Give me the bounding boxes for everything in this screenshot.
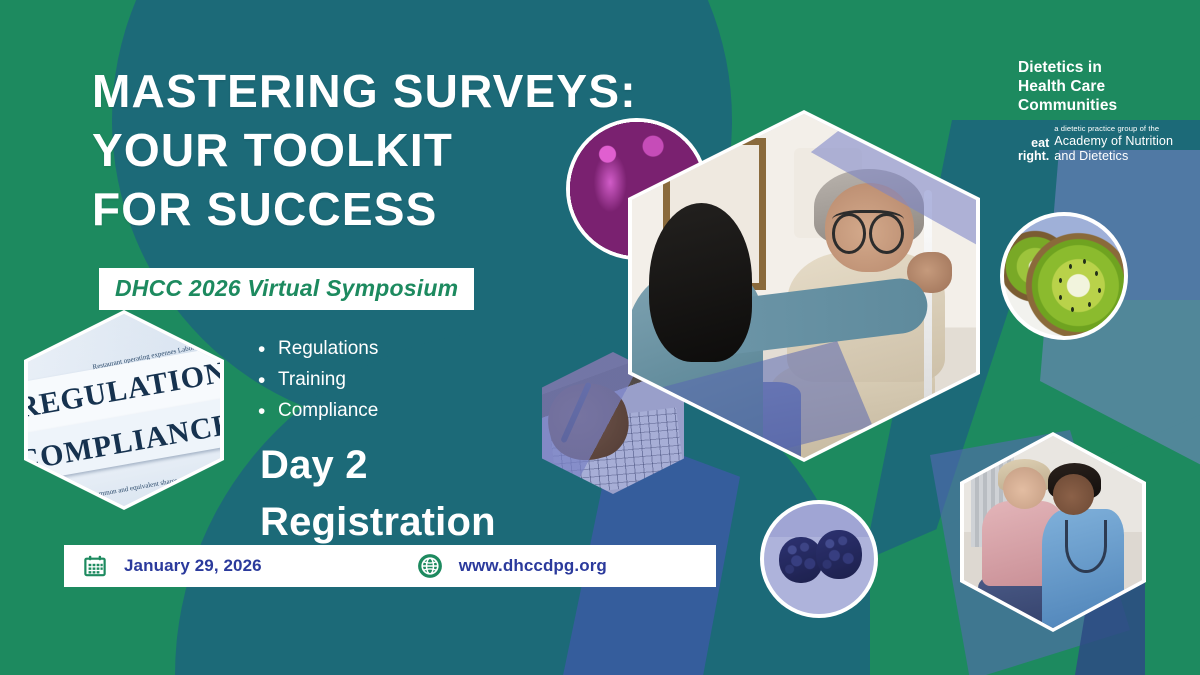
subtitle-text: DHCC 2026 Virtual Symposium: [115, 275, 458, 301]
kiwi-photo-inner: [1004, 216, 1124, 336]
academy-text-column: a dietetic practice group of the Academy…: [1054, 117, 1176, 164]
event-promo-poster: Restaurant operating expenses Labor ....…: [0, 0, 1200, 675]
topic-item-compliance: Compliance: [258, 396, 378, 427]
senior-glasses: [832, 210, 904, 234]
academy-line-2: and Dietetics: [1054, 149, 1176, 164]
subtitle-badge: DHCC 2026 Virtual Symposium: [99, 268, 474, 310]
logo-tagline: a dietetic practice group of the: [1054, 124, 1176, 134]
berries-periwinkle-tint: [764, 504, 874, 614]
registration-callout: Day 2 Registration: [260, 437, 496, 551]
kiwi-fruit-photo: [1000, 212, 1128, 340]
academy-line-1: Academy of Nutrition: [1054, 134, 1176, 149]
globe-icon: [417, 553, 443, 579]
website-text[interactable]: www.dhccdpg.org: [459, 556, 607, 576]
kiwi-art: [1004, 216, 1124, 336]
caregiver-hair: [649, 203, 752, 361]
duo-nurse-face: [1053, 474, 1094, 514]
eat-right-line-2: right.: [1018, 150, 1049, 163]
logo-academy-row: eat right. a dietetic practice group of …: [1018, 117, 1176, 164]
cta-line-day: Day 2: [260, 437, 496, 494]
cta-line-registration: Registration: [260, 494, 496, 551]
headline-line-1: MASTERING SURVEYS:: [92, 62, 637, 121]
website-item[interactable]: www.dhccdpg.org: [417, 553, 607, 579]
eat-right-mark: eat right.: [1018, 137, 1049, 164]
footer-bar: January 29, 2026 www.dhccdpg.org: [64, 545, 716, 587]
logo-line-1: Dietetics in: [1018, 58, 1176, 77]
berries-photo-inner: [764, 504, 874, 614]
blackberries-photo: [760, 500, 878, 618]
topic-item-training: Training: [258, 365, 378, 396]
headline-line-2: YOUR TOOLKIT: [92, 121, 637, 180]
calendar-icon: [84, 555, 106, 577]
logo-line-3: Communities: [1018, 96, 1176, 115]
dhcc-logo: Dietetics in Health Care Communities eat…: [1018, 58, 1176, 164]
topic-list: Regulations Training Compliance: [258, 334, 378, 426]
headline: MASTERING SURVEYS: YOUR TOOLKIT FOR SUCC…: [92, 62, 637, 239]
duo-senior-face: [1003, 467, 1046, 509]
logo-line-2: Health Care: [1018, 77, 1176, 96]
headline-line-3: FOR SUCCESS: [92, 180, 637, 239]
topic-item-regulations: Regulations: [258, 334, 378, 365]
event-date-text: January 29, 2026: [124, 556, 262, 576]
event-date-item: January 29, 2026: [84, 555, 262, 577]
